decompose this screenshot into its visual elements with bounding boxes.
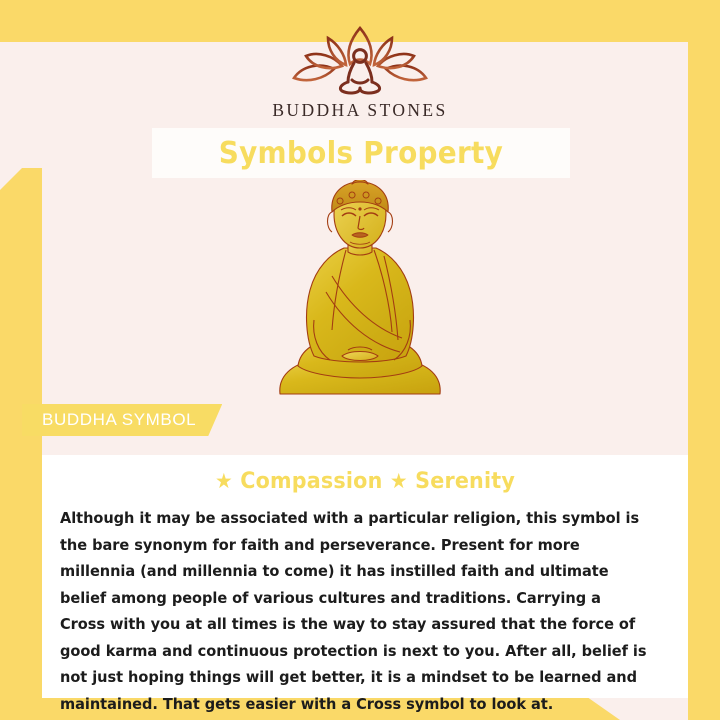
- attributes-subtitle: ★ Compassion ★ Serenity: [61, 469, 668, 494]
- category-tag-label: BUDDHA SYMBOL: [42, 410, 196, 430]
- star-icon-second: ★: [390, 469, 408, 493]
- page-title: Symbols Property: [219, 136, 503, 171]
- hero-image-container: [0, 180, 720, 398]
- brand-header: BUDDHA STONES: [0, 22, 720, 121]
- attribute-compassion: Compassion: [240, 469, 382, 494]
- description-paragraph: Although it may be associated with a par…: [60, 505, 647, 717]
- content-panel: ★ Compassion ★ Serenity Although it may …: [42, 455, 688, 698]
- lotus-meditation-icon: [284, 22, 436, 96]
- golden-buddha-statue-image: [262, 180, 458, 398]
- category-tag: BUDDHA SYMBOL: [22, 404, 222, 436]
- brand-wordmark: BUDDHA STONES: [0, 100, 720, 121]
- infographic-card: BUDDHA STONES Symbols Property: [0, 0, 720, 720]
- attribute-serenity: Serenity: [415, 469, 515, 494]
- star-icon-first: ★: [215, 469, 233, 493]
- title-banner: Symbols Property: [152, 128, 570, 178]
